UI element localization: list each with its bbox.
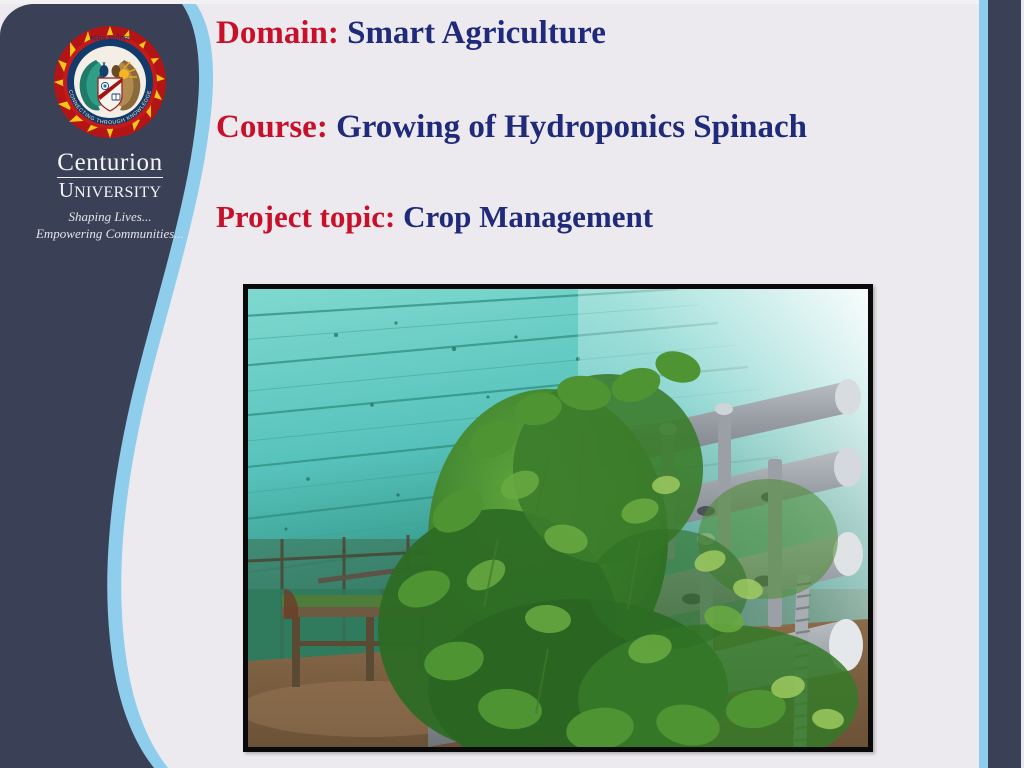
right-navy-band: [988, 0, 1024, 768]
university-tagline: Shaping Lives... Empowering Communities.…: [30, 208, 190, 243]
university-name-line2: UNIVERSITY: [30, 179, 190, 203]
slide-headings: Domain: Smart Agriculture Course: Growin…: [216, 14, 1016, 235]
heading-domain-label: Domain:: [216, 15, 339, 51]
university-name-line2-rest: NIVERSITY: [74, 184, 161, 201]
hydroponics-photo-illustration: [248, 289, 868, 747]
heading-domain: Domain: Smart Agriculture: [216, 14, 1016, 53]
university-emblem-icon: सत्यव संयोगाय: [52, 24, 168, 140]
hydroponics-photo-frame: [243, 284, 873, 752]
heading-project-topic: Project topic: Crop Management: [216, 199, 1016, 236]
presentation-slide: सत्यव संयोगाय: [0, 0, 1024, 768]
tagline-line-2: Empowering Communities...: [30, 225, 190, 242]
heading-course-value: Growing of Hydroponics Spinach: [336, 109, 807, 145]
tagline-line-1: Shaping Lives...: [30, 208, 190, 225]
heading-project-topic-value: Crop Management: [403, 199, 653, 234]
heading-course-label: Course:: [216, 109, 328, 145]
hydroponics-photo: [248, 289, 868, 747]
university-logo-block: सत्यव संयोगाय: [30, 24, 190, 242]
university-name-line2-cap: U: [59, 178, 74, 202]
heading-course: Course: Growing of Hydroponics Spinach: [216, 108, 1016, 147]
heading-domain-value: Smart Agriculture: [347, 15, 606, 51]
heading-project-topic-label: Project topic:: [216, 199, 395, 234]
university-name-line1: Centurion: [57, 150, 162, 178]
svg-text:सत्यव संयोगाय: सत्यव संयोगाय: [90, 34, 131, 43]
right-accent-stripe: [979, 0, 988, 768]
